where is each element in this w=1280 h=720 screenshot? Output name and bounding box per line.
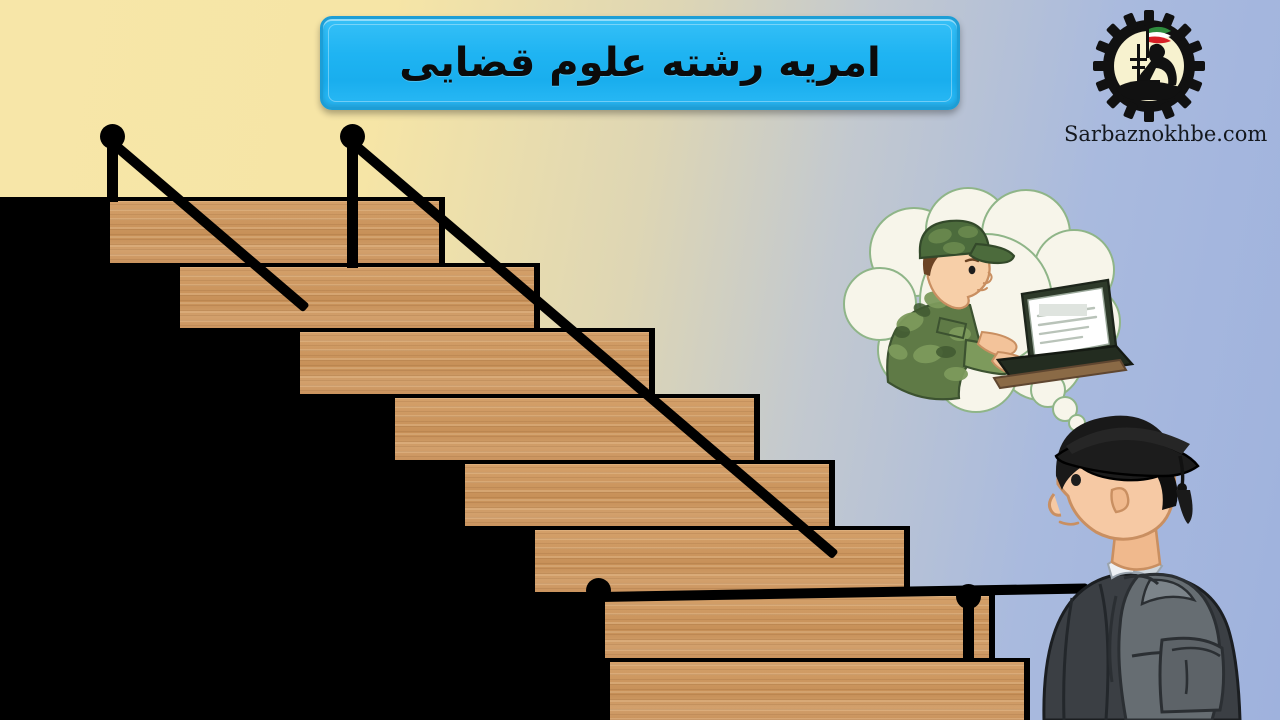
step-edge [989,592,995,660]
title-banner: امریه رشته علوم قضایی [320,16,960,110]
brand-logo-block[interactable]: Sarbaznokhbe.com [1064,6,1234,166]
step-edge [649,328,655,396]
site-name[interactable]: Sarbaznokhbe.com [1064,122,1234,146]
step-tread [605,592,995,660]
step-tread [610,658,1030,720]
gear-soldier-logo-icon [1089,6,1209,126]
page-title: امریه رشته علوم قضایی [399,40,881,86]
step-edge [754,394,760,462]
thought-bubble-soldier-with-laptop [836,182,1136,432]
step-edge [904,526,910,594]
graduate-student-with-backpack [1020,398,1280,720]
step-edge [829,460,835,528]
poster-canvas: امریه نکات امریه مدارک مورد نیاز فرآیند … [0,0,1280,720]
